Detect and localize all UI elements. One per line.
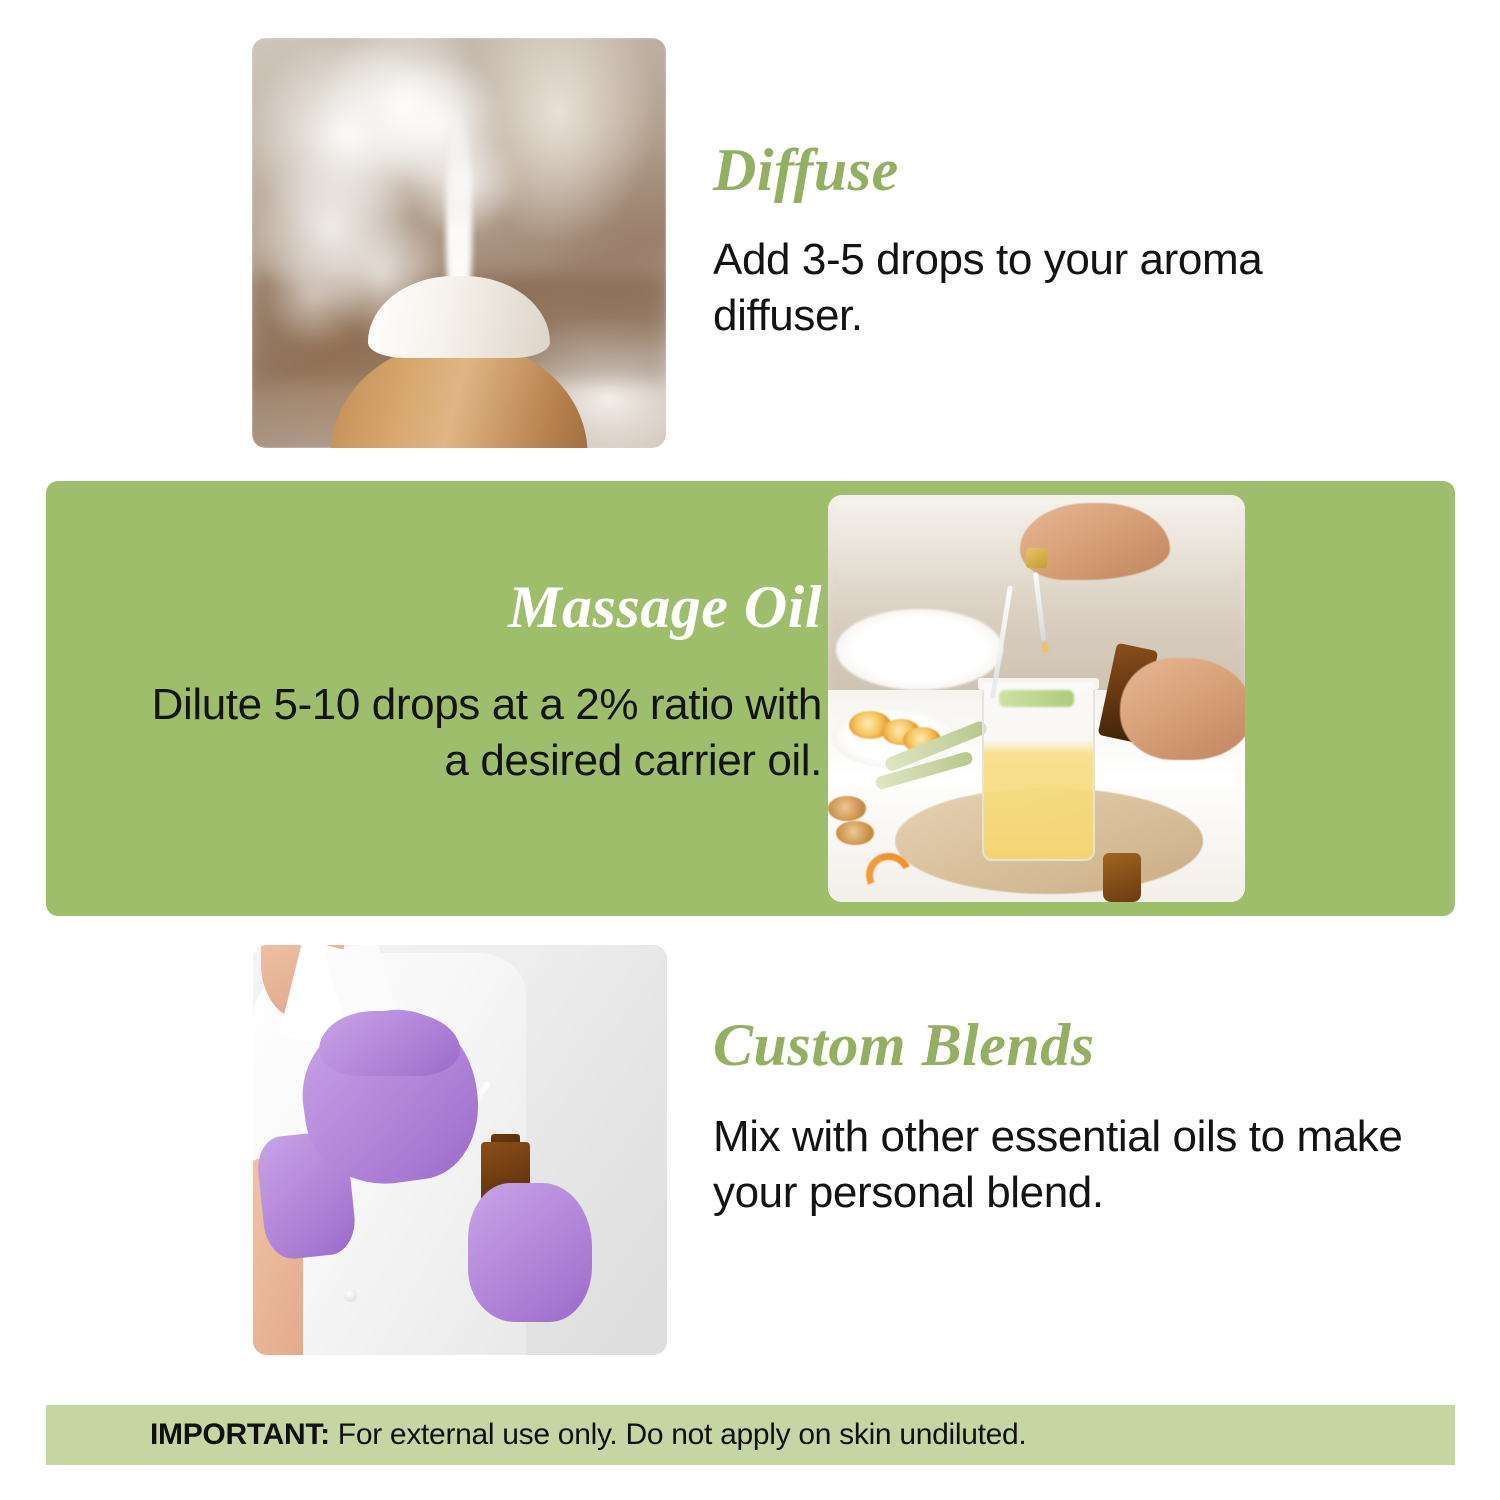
beaker-herbs — [999, 690, 1074, 706]
important-note-body: For external use only. Do not apply on s… — [330, 1418, 1027, 1451]
important-note-text: IMPORTANT: For external use only. Do not… — [150, 1418, 1026, 1452]
important-note-label: IMPORTANT: — [150, 1418, 330, 1451]
custom-blends-body-text: Mix with other essential oils to make yo… — [713, 1109, 1413, 1222]
diffuse-text-block: Diffuse Add 3-5 drops to your aroma diff… — [713, 140, 1393, 345]
purple-glove-fingers — [319, 1011, 460, 1077]
diffuse-body-text: Add 3-5 drops to your aroma diffuser. — [713, 232, 1393, 345]
diffuse-heading: Diffuse — [713, 140, 1393, 200]
important-note-bar: IMPORTANT: For external use only. Do not… — [46, 1405, 1455, 1465]
massage-oil-photo — [828, 495, 1245, 902]
mist-puff — [260, 243, 368, 350]
purple-glove-lower-hand — [468, 1183, 592, 1322]
citrus-slice — [836, 821, 874, 845]
massage-oil-body-text: Dilute 5-10 drops at a 2% ratio with a d… — [122, 677, 822, 790]
shirt-button — [344, 1289, 357, 1302]
diffuse-photo — [252, 38, 666, 448]
custom-blends-text-block: Custom Blends Mix with other essential o… — [713, 1015, 1413, 1222]
oil-droplet — [1041, 642, 1049, 653]
custom-blends-heading: Custom Blends — [713, 1015, 1413, 1075]
dropper-gold-bulb — [1026, 548, 1047, 568]
massage-oil-heading: Massage Oil — [122, 577, 822, 637]
glass-beaker — [982, 682, 1095, 861]
infographic-page: Diffuse Add 3-5 drops to your aroma diff… — [0, 0, 1500, 1500]
massage-oil-text-block: Massage Oil Dilute 5-10 drops at a 2% ra… — [122, 577, 822, 790]
hand-holding-bottle — [1120, 658, 1245, 760]
custom-blends-photo — [253, 945, 667, 1355]
citrus-slice — [828, 796, 866, 820]
amber-oil-bottle-small — [1103, 853, 1141, 902]
hand-holding-dropper — [1020, 503, 1170, 580]
